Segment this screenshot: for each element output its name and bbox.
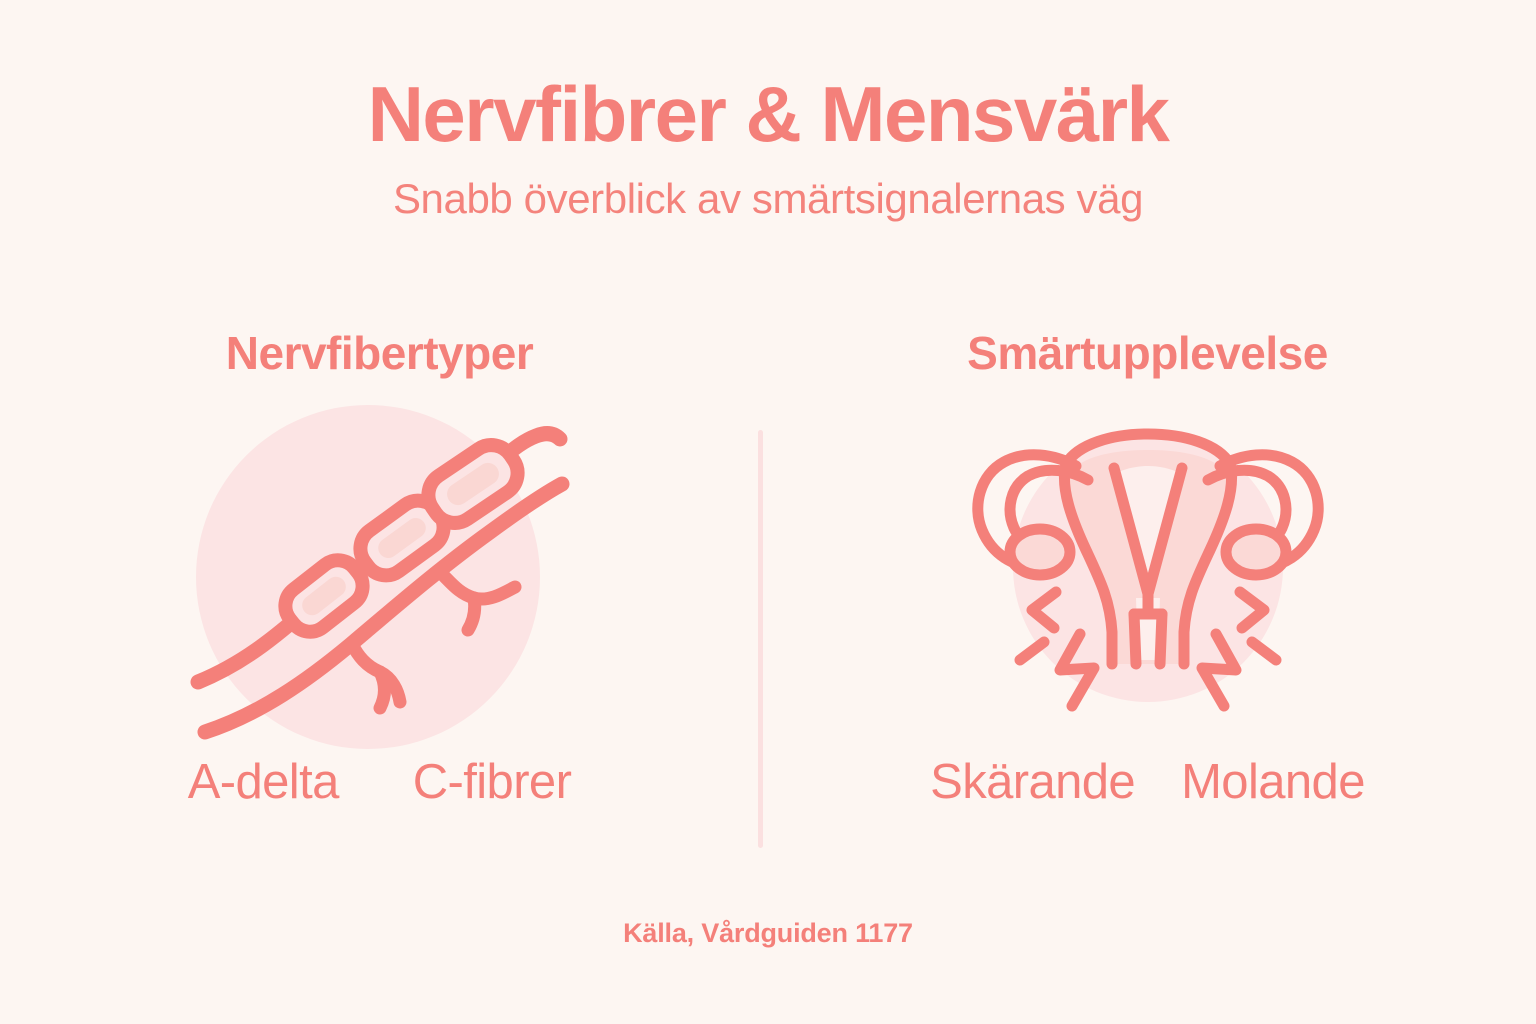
content-columns: Nervfibertyper <box>0 330 1536 890</box>
pain-dash-right <box>1252 642 1276 660</box>
cervix-canal-left <box>1134 614 1136 664</box>
label-c-fibrer: C-fibrer <box>413 758 572 807</box>
header: Nervfibrer & Mensvärk Snabb överblick av… <box>0 74 1536 222</box>
cervix-canal-right <box>1160 614 1162 664</box>
column-title-pain-experience: Smärtupplevelse <box>967 330 1328 376</box>
nerve-fiber-icon <box>190 402 570 752</box>
c-fiber-branch-upper-b <box>468 598 475 630</box>
label-a-delta: A-delta <box>188 758 339 807</box>
page-title: Nervfibrer & Mensvärk <box>0 74 1536 156</box>
column-title-nerve-fiber-types: Nervfibertyper <box>226 330 533 376</box>
column-nerve-fiber-types: Nervfibertyper <box>0 330 759 890</box>
infographic-poster: Nervfibrer & Mensvärk Snabb överblick av… <box>0 0 1536 1024</box>
ovary-left <box>1010 529 1070 575</box>
source-citation: Källa, Vårdguiden 1177 <box>0 918 1536 949</box>
column-pain-experience: Smärtupplevelse <box>759 330 1536 890</box>
pain-dash-left <box>1020 642 1044 660</box>
footer: Källa, Vårdguiden 1177 <box>0 918 1536 949</box>
uterus-pain-illustration <box>948 402 1348 752</box>
nerve-fiber-label-group: A-delta C-fibrer <box>188 758 572 807</box>
pain-label-group: Skärande Molande <box>930 758 1365 807</box>
nerve-fiber-illustration <box>190 402 570 752</box>
page-subtitle: Snabb överblick av smärtsignalernas väg <box>0 176 1536 222</box>
column-divider <box>758 430 763 848</box>
label-skarande: Skärande <box>930 758 1135 807</box>
label-molande: Molande <box>1181 758 1365 807</box>
uterus-pain-icon <box>948 402 1348 752</box>
ovary-right <box>1226 529 1286 575</box>
